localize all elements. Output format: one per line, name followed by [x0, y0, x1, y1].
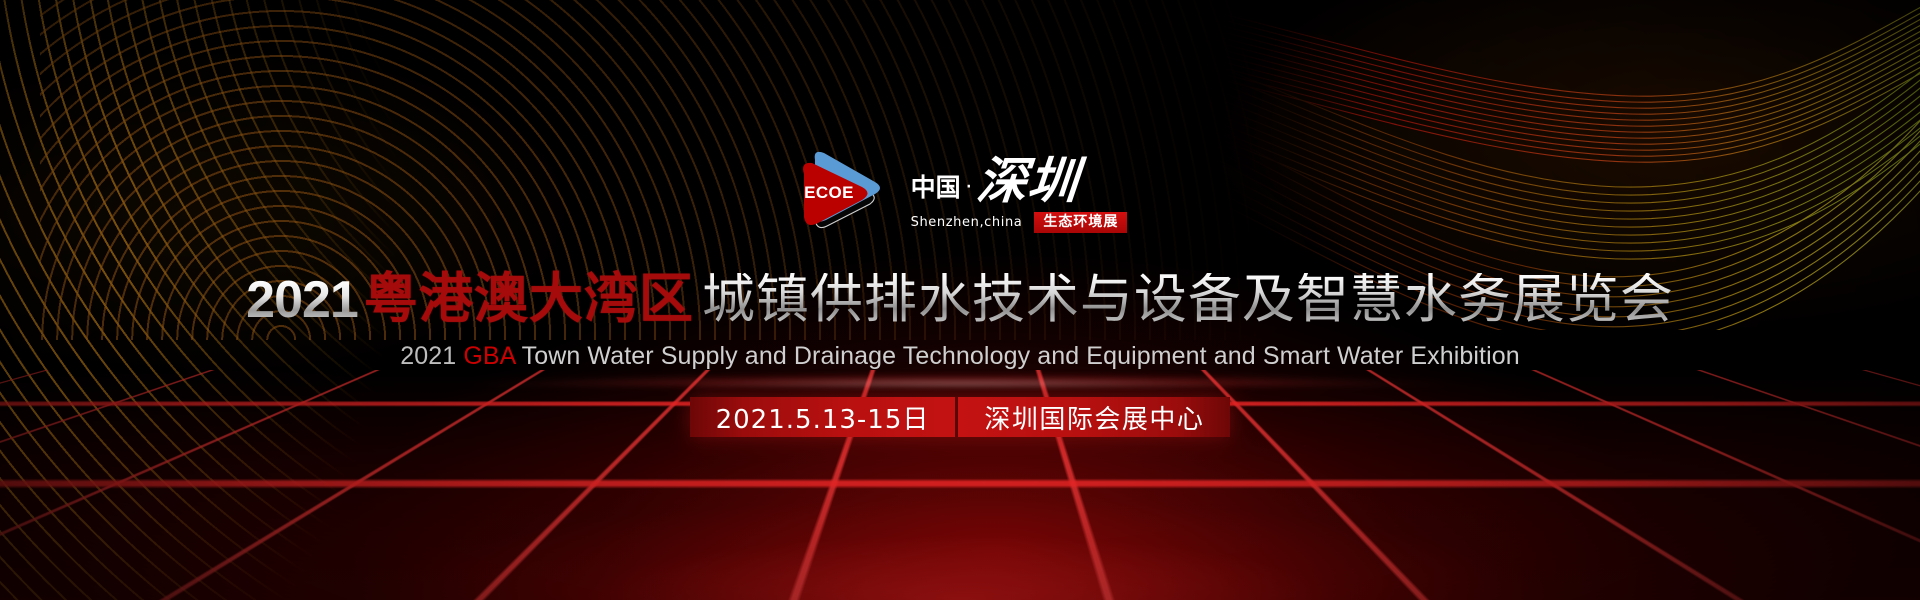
logo-lockup: ECOE 中国 · 深圳 Shenzhen,china 生态环境展	[793, 140, 1128, 236]
shenzhen-logotype-sub: Shenzhen,china 生态环境展	[911, 212, 1128, 233]
shenzhen-logotype-main: 中国 · 深圳	[911, 148, 1128, 206]
subtitle-english: 2021 GBA Town Water Supply and Drainage …	[400, 342, 1519, 371]
event-banner: ECOE 中国 · 深圳 Shenzhen,china 生态环境展 2021 粤…	[0, 0, 1920, 600]
ecoe-logo-icon: ECOE	[793, 140, 889, 236]
date-venue-bar: 2021.5.13-15日 深圳国际会展中心	[690, 397, 1231, 437]
headline-region-cn: 粤港澳大湾区	[364, 272, 694, 326]
expo-theme-badge: 生态环境展	[1034, 212, 1127, 233]
banner-content: ECOE 中国 · 深圳 Shenzhen,china 生态环境展 2021 粤…	[0, 0, 1920, 600]
shenzhen-logotype: 中国 · 深圳 Shenzhen,china 生态环境展	[911, 140, 1128, 236]
svg-text:ECOE: ECOE	[804, 183, 854, 202]
city-pinyin-label: Shenzhen,china	[911, 215, 1023, 230]
headline-year: 2021	[246, 274, 364, 326]
event-date: 2021.5.13-15日	[690, 397, 956, 437]
event-venue: 深圳国际会展中心	[958, 397, 1230, 437]
city-separator-dot: ·	[965, 173, 973, 206]
subtitle-year: 2021	[400, 342, 463, 370]
headline-topic-cn: 城镇供排水技术与设备及智慧水务展览会	[694, 273, 1674, 326]
city-name-calligraphy: 深圳	[975, 156, 1081, 206]
subtitle-region-abbr: GBA	[463, 342, 515, 370]
city-country-label: 中国	[911, 175, 961, 206]
subtitle-rest: Town Water Supply and Drainage Technolog…	[515, 342, 1520, 370]
headline: 2021 粤港澳大湾区 城镇供排水技术与设备及智慧水务展览会	[246, 272, 1674, 326]
